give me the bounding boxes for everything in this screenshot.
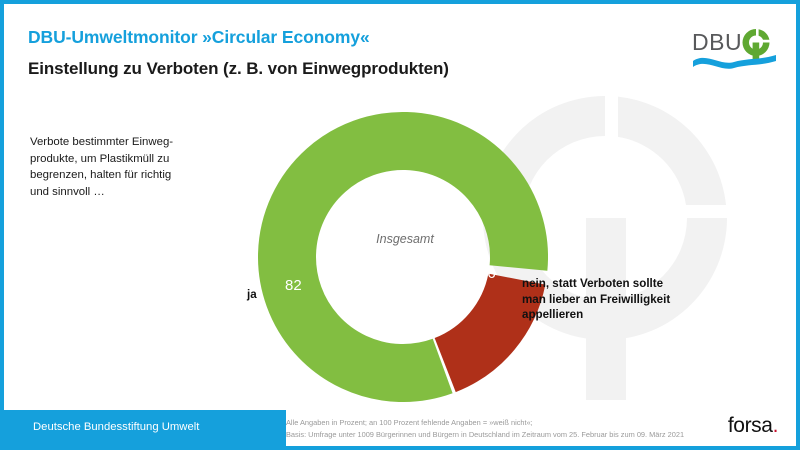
footer-brand-bar: Deutsche Bundesstiftung Umwelt <box>4 410 286 446</box>
svg-text:DBU: DBU <box>692 29 742 55</box>
forsa-dot: . <box>773 414 778 437</box>
donut-label-nein-line2: man lieber an Freiwilligkeit <box>522 293 670 306</box>
footer-note: Alle Angaben in Prozent; an 100 Prozent … <box>286 417 686 440</box>
donut-label-nein-line3: appellieren <box>522 308 583 321</box>
frame-right <box>796 0 800 450</box>
slide-root: DBU-Umweltmonitor »Circular Economy« Ein… <box>0 0 800 450</box>
forsa-wordmark: forsa <box>728 414 773 437</box>
frame-top <box>0 0 800 4</box>
dbu-logo: DBU <box>692 22 778 70</box>
donut-label-nein: nein, statt Verboten sollte man lieber a… <box>522 276 702 323</box>
footer-note-line2: Basis: Umfrage unter 1009 Bürgerinnen un… <box>286 429 686 441</box>
page-title: DBU-Umweltmonitor »Circular Economy« <box>28 26 668 48</box>
dbu-green-mark-icon <box>743 29 770 63</box>
donut-label-nein-line1: nein, statt Verboten sollte <box>522 277 663 290</box>
donut-label-ja: ja <box>247 288 257 301</box>
question-text: Verbote bestimmter Einweg-produkte, um P… <box>30 134 230 200</box>
donut-chart <box>258 112 548 402</box>
frame-bottom <box>0 446 800 450</box>
footer-org-name: Deutsche Bundesstiftung Umwelt <box>33 421 199 433</box>
donut-value-ja: 82 <box>285 277 302 294</box>
donut-center-label: Insgesamt <box>350 232 460 246</box>
header: DBU-Umweltmonitor »Circular Economy« Ein… <box>28 26 668 80</box>
page-subtitle: Einstellung zu Verboten (z. B. von Einwe… <box>28 58 668 80</box>
forsa-logo: forsa. <box>728 414 778 438</box>
frame-left <box>0 0 4 450</box>
footer-note-line1: Alle Angaben in Prozent; an 100 Prozent … <box>286 417 686 429</box>
donut-value-nein: 16 <box>479 265 496 282</box>
